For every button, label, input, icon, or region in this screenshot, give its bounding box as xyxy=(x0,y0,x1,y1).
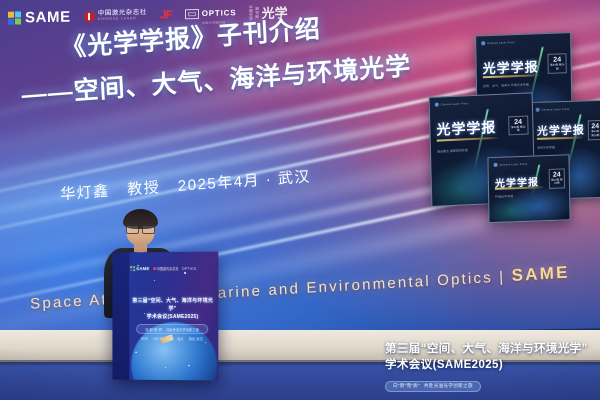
four-square-grid-icon xyxy=(8,11,21,24)
publisher-dot-icon xyxy=(435,103,439,107)
publisher-dot-icon xyxy=(481,41,485,45)
cover-issue-badge: 24 第44卷 第24期 xyxy=(549,168,565,188)
publisher-dot-icon xyxy=(494,163,498,167)
cover-issue-badge: 24 第44卷 第24期 xyxy=(588,120,600,140)
book-badge-icon xyxy=(84,11,95,22)
photo-caption-overlay: 第三届“空间、大气、海洋与环境光学” 学术会议(SAME2025) 向“新”而“… xyxy=(385,341,590,392)
podium-slogan-pill: 向“新”而“质” 共赴光溢光学创新之旅 xyxy=(136,324,208,334)
cover-issue-badge: 24 第44卷 第24期 xyxy=(548,54,567,74)
podium-event-title: 第三届“空间、大气、海洋与环境光学” 学术会议(SAME2025) xyxy=(132,298,213,321)
caption-slogan-left: 向“新”而“质” xyxy=(393,383,420,389)
caption-slogan-pill: 向“新”而“质” 共赴光溢光学创新之旅 xyxy=(385,381,481,392)
lectern-podium: SAME 中国激光杂志社 OPTICS 第三届“空间、大气、海洋与环境光学” 学… xyxy=(112,252,218,381)
four-square-grid-icon xyxy=(130,266,135,271)
cover-publisher: Chinese Laser Press xyxy=(481,40,515,45)
podium-meta-place-label: 地点 xyxy=(177,336,184,341)
speaker-title: 教授 xyxy=(127,179,161,198)
cover-publisher: Chinese Laser Press xyxy=(494,162,528,167)
podium-event-meta: 时间 4月19—20日 地点 湖北·武汉 xyxy=(132,336,212,341)
cover-title: 光学学报 xyxy=(436,117,497,140)
podium-meta-time-label: 时间 xyxy=(141,336,148,341)
podium-slogan-right: 共赴光溢光学创新之旅 xyxy=(166,327,199,332)
podium-title-line-2: 学术会议(SAME2025) xyxy=(132,313,213,321)
english-band-suffix: SAME xyxy=(511,263,570,285)
speaker-name: 华灯鑫 xyxy=(60,183,110,204)
logo-chinese-laser: 中国激光杂志社 CHINESE LASER xyxy=(84,10,147,22)
cover-subtitle: 海洋光学专题 xyxy=(537,145,555,150)
cover-publisher: Chinese Laser Press xyxy=(536,107,570,112)
podium-logo-same: SAME xyxy=(130,266,149,271)
english-band-divider: | xyxy=(499,268,506,285)
podium-meta-time-value: 4月19—20日 xyxy=(153,336,172,341)
byline-separator: · xyxy=(265,171,272,188)
logo-chinese-laser-en: CHINESE LASER xyxy=(98,17,147,22)
event-city: 武汉 xyxy=(277,168,311,187)
caption-slogan-right: 共赴光溢光学创新之旅 xyxy=(424,383,473,389)
caption-line-1: 第三届“空间、大气、海洋与环境光学” xyxy=(385,341,590,358)
logo-same-label: SAME xyxy=(25,8,71,26)
cover-publisher: Chinese Laser Press xyxy=(435,101,469,107)
publisher-dot-icon xyxy=(536,108,540,112)
journal-cover: Chinese Laser Press 光学学报 环境光学专题 24 第44卷 … xyxy=(487,154,570,223)
logo-same: SAME xyxy=(8,8,71,26)
glasses-icon xyxy=(126,225,155,232)
cover-issue-badge: 24 第44卷 第24期 xyxy=(508,115,529,136)
journal-cover-group: Chinese Laser Press 光学学报 空间、大气、海洋与 环境光学专… xyxy=(430,32,598,210)
podium-slogan-left: 向“新”而“质” xyxy=(145,326,163,331)
podium-logo-row: SAME 中国激光杂志社 OPTICS xyxy=(130,266,214,272)
podium-title-line-1: 第三届“空间、大气、海洋与环境光学” xyxy=(132,298,213,314)
conference-photo: SAME 中国激光杂志社 CHINESE LASER JF OPTICS 中国光… xyxy=(0,0,600,400)
podium-meta-place-value: 湖北·武汉 xyxy=(189,336,203,341)
cover-subtitle: 激光雷达 遥感探测专题 xyxy=(437,148,468,153)
podium-logo-press: 中国激光杂志社 xyxy=(153,266,179,271)
led-backdrop-screen: SAME 中国激光杂志社 CHINESE LASER JF OPTICS 中国光… xyxy=(0,0,600,340)
podium-logo-optics: OPTICS xyxy=(182,266,197,270)
cover-subtitle: 环境光学专题 xyxy=(495,194,513,199)
caption-line-2: 学术会议(SAME2025) xyxy=(385,357,590,374)
cover-subtitle: 空间、大气、海洋与 环境光学专题 xyxy=(483,83,529,89)
